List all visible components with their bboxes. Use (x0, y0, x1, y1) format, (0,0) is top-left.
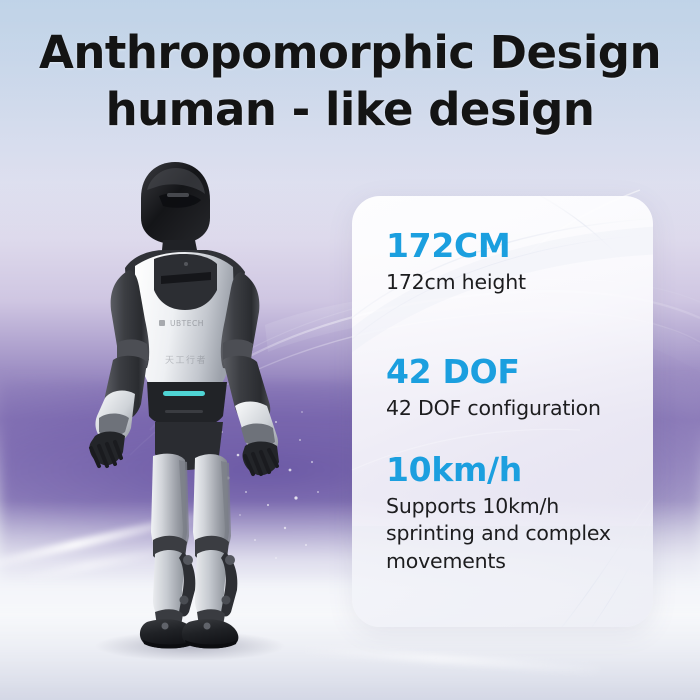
robot-head (141, 162, 210, 260)
robot-leg-left (140, 454, 196, 649)
headline-line-2: human - like design (0, 81, 700, 138)
spec-card: 172CM 172cm height 42 DOF 42 DOF configu… (352, 196, 653, 627)
robot-hand-left (89, 432, 125, 467)
svg-text:UBTECH: UBTECH (170, 319, 204, 328)
stat-item: 42 DOF 42 DOF configuration (386, 355, 641, 422)
stat-description: 172cm height (386, 269, 641, 296)
stat-item: 172CM 172cm height (386, 229, 641, 296)
robot-hand-right (243, 442, 280, 476)
page-title: Anthropomorphic Design human - like desi… (0, 24, 700, 138)
robot-boot-right (182, 619, 238, 648)
robot-leg-right (182, 454, 238, 648)
stat-item: 10km/h Supports 10km/h sprinting and com… (386, 453, 641, 575)
chest-led-icon (163, 391, 205, 396)
chest-subtext: 天工行者 (165, 354, 207, 366)
stat-value: 42 DOF (386, 355, 641, 390)
robot-illustration: UBTECH 天工行者 (55, 160, 315, 660)
stat-value: 10km/h (386, 453, 641, 488)
svg-text:天工行者: 天工行者 (165, 354, 207, 366)
stat-value: 172CM (386, 229, 641, 264)
robot-arm-left (89, 270, 149, 466)
robot-arm-right (221, 272, 279, 475)
stat-description: Supports 10km/h sprinting and complex mo… (386, 493, 641, 575)
headline-line-1: Anthropomorphic Design (39, 26, 661, 79)
poster-stage: Anthropomorphic Design human - like desi… (0, 0, 700, 700)
stat-description: 42 DOF configuration (386, 395, 641, 422)
